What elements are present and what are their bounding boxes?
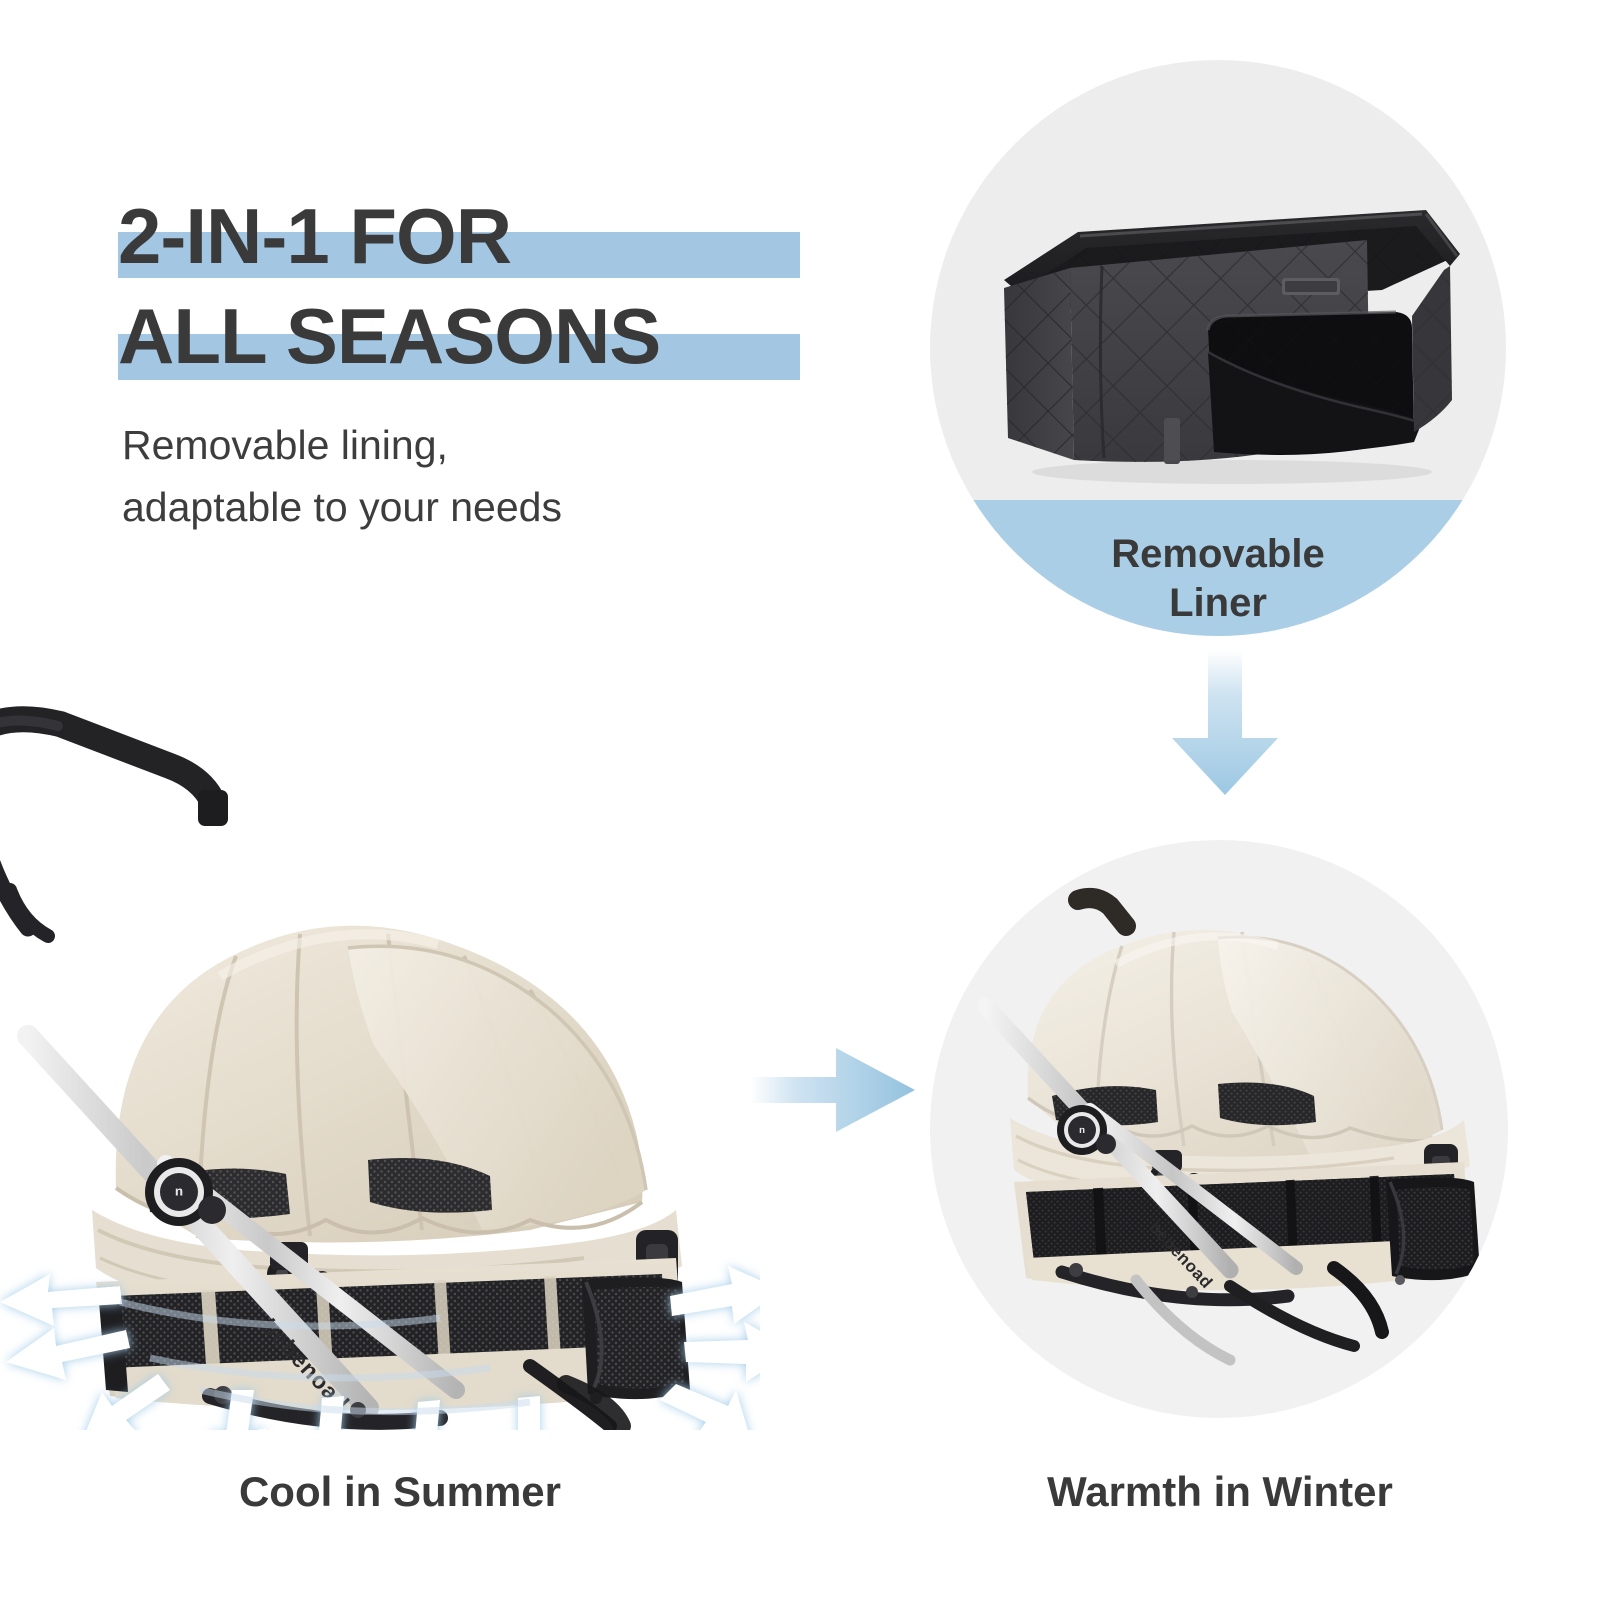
subheadline-line-1: Removable lining, [122, 415, 822, 477]
infographic-canvas: 2-IN-1 FOR ALL SEASONS Removable lining,… [0, 0, 1600, 1600]
summer-hub-logo: ⁿ [175, 1181, 184, 1206]
subheadline-line-2: adaptable to your needs [122, 477, 822, 539]
down-arrow-icon [1150, 650, 1300, 795]
right-arrow-icon [750, 1040, 915, 1140]
removable-liner-panel: Removable Liner [930, 60, 1506, 636]
removable-liner-label: Removable Liner [930, 530, 1506, 628]
summer-caption: Cool in Summer [0, 1468, 800, 1516]
liner-label-line-1: Removable [930, 530, 1506, 579]
headline-text-1: 2-IN-1 FOR [118, 192, 511, 280]
removable-liner-image [952, 170, 1492, 500]
winter-caption: Warmth in Winter [890, 1468, 1550, 1516]
winter-hub-logo: ⁿ [1079, 1124, 1085, 1141]
subheadline-block: Removable lining, adaptable to your need… [122, 415, 822, 538]
headline-block: 2-IN-1 FOR ALL SEASONS [118, 186, 878, 386]
summer-stroller-image: bebenoad ⁿ [0, 690, 760, 1430]
headline-text-2: ALL SEASONS [118, 292, 660, 380]
liner-label-line-2: Liner [930, 579, 1506, 628]
headline-line-2: ALL SEASONS [118, 286, 878, 386]
winter-stroller-panel: bebenoad ⁿ [930, 840, 1508, 1418]
headline-line-1: 2-IN-1 FOR [118, 186, 878, 286]
winter-stroller-image: bebenoad ⁿ [930, 840, 1508, 1418]
